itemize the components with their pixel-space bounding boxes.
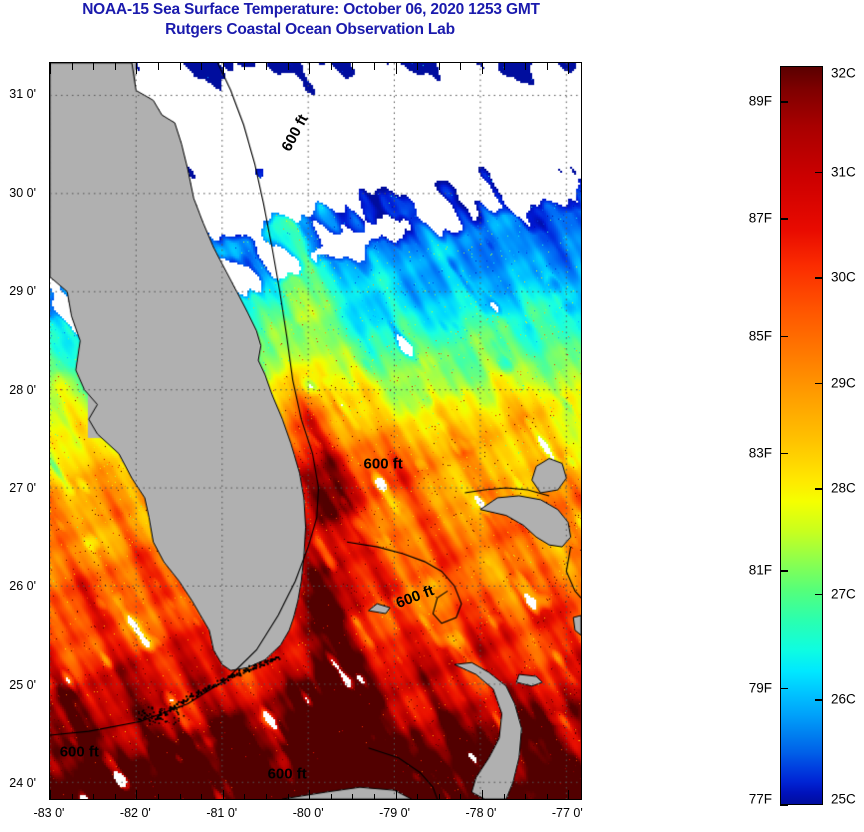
y-axis-minor-tick bbox=[49, 563, 50, 564]
y-axis-minor-tick bbox=[581, 317, 582, 318]
y-axis-minor-tick bbox=[581, 538, 582, 539]
x-axis-minor-tick bbox=[331, 63, 332, 70]
contour-label: 600 ft bbox=[60, 744, 99, 761]
y-axis-tick bbox=[581, 686, 582, 687]
x-axis-minor-tick bbox=[93, 794, 94, 800]
x-axis-label: -78 0' bbox=[465, 806, 496, 820]
colorbar-celsius-label: 28C bbox=[831, 481, 856, 496]
x-axis-minor-tick bbox=[439, 794, 440, 800]
x-axis-minor-tick bbox=[72, 63, 73, 70]
colorbar-fahrenheit-label: 81F bbox=[749, 563, 772, 578]
y-axis-minor-tick bbox=[581, 514, 582, 515]
contour-label: 600 ft bbox=[268, 765, 307, 782]
y-axis-minor-tick bbox=[49, 341, 50, 342]
x-axis-label: -77 0' bbox=[552, 806, 583, 820]
x-axis-tick bbox=[136, 63, 137, 74]
x-axis-tick bbox=[136, 790, 137, 800]
x-axis-minor-tick bbox=[180, 794, 181, 800]
x-axis-label: -81 0' bbox=[206, 806, 237, 820]
y-axis-minor-tick bbox=[49, 366, 50, 367]
y-axis-minor-tick bbox=[49, 415, 50, 416]
x-axis-minor-tick bbox=[158, 63, 159, 70]
x-axis-minor-tick bbox=[93, 63, 94, 70]
colorbar-fahrenheit-label: 83F bbox=[749, 446, 772, 461]
x-axis-tick bbox=[223, 63, 224, 74]
x-axis-minor-tick bbox=[288, 63, 289, 70]
y-axis-minor-tick bbox=[49, 218, 50, 219]
page-subtitle: Rutgers Coastal Ocean Observation Lab bbox=[0, 20, 620, 40]
colorbar-celsius-label: 31C bbox=[831, 164, 856, 179]
y-axis-tick bbox=[581, 784, 582, 785]
y-axis-minor-tick bbox=[581, 735, 582, 736]
y-axis-minor-tick bbox=[49, 661, 50, 662]
x-axis-tick bbox=[223, 790, 224, 800]
x-axis-minor-tick bbox=[504, 63, 505, 70]
x-axis-tick bbox=[396, 790, 397, 800]
x-axis-tick bbox=[50, 63, 51, 74]
x-axis-minor-tick bbox=[266, 794, 267, 800]
x-axis-minor-tick bbox=[460, 794, 461, 800]
colorbar-fahrenheit-label: 87F bbox=[749, 211, 772, 226]
x-axis-label: -83 0' bbox=[34, 806, 65, 820]
colorbar-fahrenheit-labels: 89F87F85F83F81F79F77F bbox=[780, 66, 823, 805]
y-axis-minor-tick bbox=[581, 341, 582, 342]
x-axis-tick bbox=[309, 63, 310, 74]
x-axis-minor-tick bbox=[288, 794, 289, 800]
y-axis-tick bbox=[581, 587, 582, 588]
y-axis-minor-tick bbox=[49, 464, 50, 465]
x-axis-minor-tick bbox=[374, 63, 375, 70]
y-axis-tick bbox=[49, 95, 50, 96]
y-axis-tick bbox=[49, 391, 50, 392]
contour-label: 600 ft bbox=[364, 455, 403, 472]
y-axis-minor-tick bbox=[49, 145, 50, 146]
y-axis-minor-tick bbox=[49, 268, 50, 269]
y-axis-minor-tick bbox=[581, 169, 582, 170]
colorbar-fahrenheit-label: 85F bbox=[749, 328, 772, 343]
y-axis-label: 26 0' bbox=[0, 579, 36, 593]
y-axis-minor-tick bbox=[581, 366, 582, 367]
x-axis-label: -79 0' bbox=[379, 806, 410, 820]
y-axis-minor-tick bbox=[581, 268, 582, 269]
x-axis-minor-tick bbox=[547, 794, 548, 800]
x-axis-minor-tick bbox=[201, 63, 202, 70]
x-axis-tick bbox=[482, 790, 483, 800]
x-axis-minor-tick bbox=[460, 63, 461, 70]
y-axis-minor-tick bbox=[49, 317, 50, 318]
y-axis-tick bbox=[581, 489, 582, 490]
x-axis-minor-tick bbox=[115, 794, 116, 800]
y-axis-tick bbox=[581, 292, 582, 293]
y-axis-minor-tick bbox=[581, 760, 582, 761]
y-axis-tick bbox=[49, 194, 50, 195]
x-axis-minor-tick bbox=[439, 63, 440, 70]
y-axis-minor-tick bbox=[49, 612, 50, 613]
y-axis-label: 31 0' bbox=[0, 87, 36, 101]
y-axis-minor-tick bbox=[49, 760, 50, 761]
title-block: NOAA-15 Sea Surface Temperature: October… bbox=[0, 0, 620, 40]
colorbar-celsius-label: 25C bbox=[831, 792, 856, 807]
x-axis-minor-tick bbox=[201, 794, 202, 800]
colorbar-fahrenheit-label: 79F bbox=[749, 680, 772, 695]
y-axis-label: 29 0' bbox=[0, 284, 36, 298]
x-axis-minor-tick bbox=[72, 794, 73, 800]
y-axis-minor-tick bbox=[49, 637, 50, 638]
y-axis-minor-tick bbox=[581, 710, 582, 711]
colorbar: 32C31C30C29C28C27C26C25C 89F87F85F83F81F… bbox=[780, 66, 823, 805]
y-axis-minor-tick bbox=[581, 145, 582, 146]
x-axis-tick bbox=[482, 63, 483, 74]
sst-heatmap-canvas bbox=[50, 63, 581, 799]
y-axis-tick bbox=[581, 95, 582, 96]
colorbar-celsius-label: 27C bbox=[831, 586, 856, 601]
x-axis-minor-tick bbox=[352, 794, 353, 800]
x-axis-label: -80 0' bbox=[293, 806, 324, 820]
y-axis-label: 30 0' bbox=[0, 186, 36, 200]
y-axis-minor-tick bbox=[49, 243, 50, 244]
x-axis-minor-tick bbox=[504, 794, 505, 800]
colorbar-celsius-label: 30C bbox=[831, 270, 856, 285]
y-axis-minor-tick bbox=[49, 514, 50, 515]
y-axis-tick bbox=[49, 686, 50, 687]
x-axis-minor-tick bbox=[374, 794, 375, 800]
y-axis-minor-tick bbox=[581, 440, 582, 441]
y-axis-minor-tick bbox=[49, 538, 50, 539]
y-axis-tick bbox=[49, 489, 50, 490]
y-axis-label: 25 0' bbox=[0, 678, 36, 692]
x-axis-minor-tick bbox=[180, 63, 181, 70]
y-axis-tick bbox=[49, 587, 50, 588]
x-axis-minor-tick bbox=[417, 63, 418, 70]
y-axis-minor-tick bbox=[581, 637, 582, 638]
y-axis-minor-tick bbox=[581, 612, 582, 613]
colorbar-celsius-label: 29C bbox=[831, 375, 856, 390]
x-axis-minor-tick bbox=[417, 794, 418, 800]
y-axis-minor-tick bbox=[581, 464, 582, 465]
y-axis-minor-tick bbox=[49, 169, 50, 170]
x-axis-minor-tick bbox=[244, 794, 245, 800]
x-axis-tick bbox=[50, 790, 51, 800]
y-axis-minor-tick bbox=[49, 735, 50, 736]
x-axis-minor-tick bbox=[352, 63, 353, 70]
x-axis-tick bbox=[309, 790, 310, 800]
colorbar-celsius-label: 26C bbox=[831, 692, 856, 707]
y-axis-tick bbox=[581, 391, 582, 392]
x-axis-minor-tick bbox=[158, 794, 159, 800]
sst-map-plot: 600 ft600 ft600 ft600 ft600 ft bbox=[49, 62, 582, 800]
x-axis-tick bbox=[396, 63, 397, 74]
x-axis-tick bbox=[568, 63, 569, 74]
y-axis-minor-tick bbox=[49, 440, 50, 441]
x-axis-tick bbox=[568, 790, 569, 800]
x-axis-minor-tick bbox=[244, 63, 245, 70]
y-axis-minor-tick bbox=[581, 120, 582, 121]
colorbar-fahrenheit-label: 77F bbox=[749, 792, 772, 807]
x-axis-minor-tick bbox=[525, 794, 526, 800]
x-axis-minor-tick bbox=[115, 63, 116, 70]
colorbar-celsius-label: 32C bbox=[831, 66, 856, 81]
y-axis-minor-tick bbox=[581, 415, 582, 416]
y-axis-tick bbox=[581, 194, 582, 195]
y-axis-minor-tick bbox=[581, 243, 582, 244]
y-axis-minor-tick bbox=[581, 661, 582, 662]
page-title: NOAA-15 Sea Surface Temperature: October… bbox=[0, 0, 620, 20]
y-axis-label: 24 0' bbox=[0, 776, 36, 790]
y-axis-minor-tick bbox=[581, 218, 582, 219]
y-axis-label: 27 0' bbox=[0, 481, 36, 495]
y-axis-minor-tick bbox=[581, 563, 582, 564]
colorbar-fahrenheit-label: 89F bbox=[749, 94, 772, 109]
x-axis-minor-tick bbox=[266, 63, 267, 70]
x-axis-minor-tick bbox=[331, 794, 332, 800]
y-axis-tick bbox=[49, 292, 50, 293]
colorbar-tick bbox=[780, 805, 788, 806]
y-axis-tick bbox=[49, 784, 50, 785]
y-axis-label: 28 0' bbox=[0, 383, 36, 397]
x-axis-label: -82 0' bbox=[120, 806, 151, 820]
y-axis-minor-tick bbox=[49, 120, 50, 121]
y-axis-minor-tick bbox=[49, 710, 50, 711]
x-axis-minor-tick bbox=[547, 63, 548, 70]
x-axis-minor-tick bbox=[525, 63, 526, 70]
